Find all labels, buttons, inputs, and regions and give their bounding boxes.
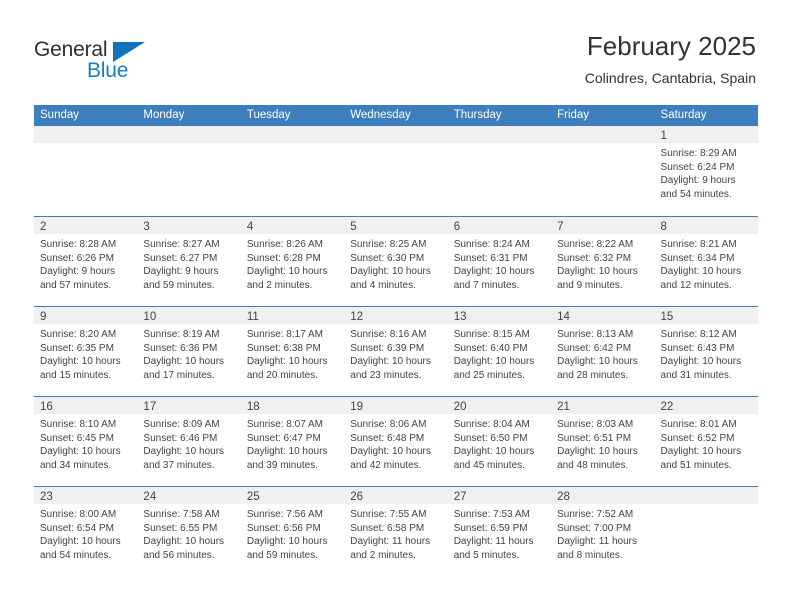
daylight-text-line2: and 54 minutes. <box>40 549 131 563</box>
daylight-text-line2: and 5 minutes. <box>454 549 545 563</box>
day-number-band <box>655 487 758 504</box>
daylight-text-line2: and 15 minutes. <box>40 369 131 383</box>
day-number-band <box>241 126 344 143</box>
calendar-day-cell[interactable]: 24Sunrise: 7:58 AMSunset: 6:55 PMDayligh… <box>137 487 240 576</box>
day-number: 23 <box>40 491 53 503</box>
sunrise-text: Sunrise: 8:00 AM <box>40 508 131 522</box>
logo-text-blue: Blue <box>87 59 128 83</box>
day-number: 12 <box>350 311 363 323</box>
daylight-text-line2: and 48 minutes. <box>557 459 648 473</box>
daylight-text-line2: and 51 minutes. <box>661 459 752 473</box>
calendar-day-cell[interactable]: 4Sunrise: 8:26 AMSunset: 6:28 PMDaylight… <box>241 217 344 306</box>
calendar-weeks: 1Sunrise: 8:29 AMSunset: 6:24 PMDaylight… <box>34 126 758 576</box>
sunrise-text: Sunrise: 7:53 AM <box>454 508 545 522</box>
day-number-band: 28 <box>551 487 654 504</box>
day-number: 19 <box>350 401 363 413</box>
sunset-text: Sunset: 6:34 PM <box>661 252 752 266</box>
daylight-text-line2: and 2 minutes. <box>350 549 441 563</box>
day-number-band <box>551 126 654 143</box>
weekday-header-sunday: Sunday <box>34 105 137 126</box>
weekday-header-row: Sunday Monday Tuesday Wednesday Thursday… <box>34 105 758 126</box>
calendar-day-cell[interactable]: 28Sunrise: 7:52 AMSunset: 7:00 PMDayligh… <box>551 487 654 576</box>
sunrise-text: Sunrise: 8:24 AM <box>454 238 545 252</box>
sunset-text: Sunset: 6:39 PM <box>350 342 441 356</box>
daylight-text-line1: Daylight: 11 hours <box>557 535 648 549</box>
daylight-text-line1: Daylight: 10 hours <box>661 265 752 279</box>
calendar-day-cell[interactable]: 21Sunrise: 8:03 AMSunset: 6:51 PMDayligh… <box>551 397 654 486</box>
day-number-band: 5 <box>344 217 447 234</box>
sunrise-text: Sunrise: 8:04 AM <box>454 418 545 432</box>
daylight-text-line1: Daylight: 10 hours <box>247 265 338 279</box>
calendar-week-row: 23Sunrise: 8:00 AMSunset: 6:54 PMDayligh… <box>34 486 758 576</box>
sunrise-text: Sunrise: 8:15 AM <box>454 328 545 342</box>
sunrise-text: Sunrise: 7:55 AM <box>350 508 441 522</box>
daylight-text-line1: Daylight: 10 hours <box>350 355 441 369</box>
calendar-day-cell[interactable]: 7Sunrise: 8:22 AMSunset: 6:32 PMDaylight… <box>551 217 654 306</box>
day-number-band: 16 <box>34 397 137 414</box>
day-number-band: 1 <box>655 126 758 143</box>
day-number: 13 <box>454 311 467 323</box>
weekday-header-tuesday: Tuesday <box>241 105 344 126</box>
calendar-day-cell[interactable]: 22Sunrise: 8:01 AMSunset: 6:52 PMDayligh… <box>655 397 758 486</box>
day-sun-info: Sunrise: 8:15 AMSunset: 6:40 PMDaylight:… <box>448 324 551 382</box>
sunset-text: Sunset: 6:58 PM <box>350 522 441 536</box>
sunrise-text: Sunrise: 8:27 AM <box>143 238 234 252</box>
sunrise-text: Sunrise: 8:20 AM <box>40 328 131 342</box>
daylight-text-line1: Daylight: 10 hours <box>454 355 545 369</box>
day-number-band <box>448 126 551 143</box>
calendar-day-cell[interactable]: 3Sunrise: 8:27 AMSunset: 6:27 PMDaylight… <box>137 217 240 306</box>
day-number: 3 <box>143 221 149 233</box>
daylight-text-line1: Daylight: 10 hours <box>557 265 648 279</box>
day-sun-info: Sunrise: 8:03 AMSunset: 6:51 PMDaylight:… <box>551 414 654 472</box>
calendar-day-cell[interactable]: 15Sunrise: 8:12 AMSunset: 6:43 PMDayligh… <box>655 307 758 396</box>
page-title: February 2025 <box>585 30 756 62</box>
sunset-text: Sunset: 7:00 PM <box>557 522 648 536</box>
day-number: 17 <box>143 401 156 413</box>
day-number-band: 9 <box>34 307 137 324</box>
daylight-text-line2: and 54 minutes. <box>661 188 752 202</box>
sunrise-text: Sunrise: 8:01 AM <box>661 418 752 432</box>
day-number-band: 4 <box>241 217 344 234</box>
day-number-band: 14 <box>551 307 654 324</box>
daylight-text-line1: Daylight: 11 hours <box>350 535 441 549</box>
day-number: 15 <box>661 311 674 323</box>
day-number-band: 17 <box>137 397 240 414</box>
sunset-text: Sunset: 6:51 PM <box>557 432 648 446</box>
sunset-text: Sunset: 6:31 PM <box>454 252 545 266</box>
daylight-text-line1: Daylight: 10 hours <box>143 355 234 369</box>
sunset-text: Sunset: 6:42 PM <box>557 342 648 356</box>
day-sun-info: Sunrise: 8:20 AMSunset: 6:35 PMDaylight:… <box>34 324 137 382</box>
calendar-day-cell[interactable]: 23Sunrise: 8:00 AMSunset: 6:54 PMDayligh… <box>34 487 137 576</box>
day-sun-info: Sunrise: 8:06 AMSunset: 6:48 PMDaylight:… <box>344 414 447 472</box>
sunset-text: Sunset: 6:32 PM <box>557 252 648 266</box>
calendar-week-row: 16Sunrise: 8:10 AMSunset: 6:45 PMDayligh… <box>34 396 758 486</box>
sunset-text: Sunset: 6:43 PM <box>661 342 752 356</box>
daylight-text-line2: and 34 minutes. <box>40 459 131 473</box>
daylight-text-line2: and 25 minutes. <box>454 369 545 383</box>
calendar-day-cell-empty <box>655 487 758 576</box>
day-number-band: 10 <box>137 307 240 324</box>
day-number: 10 <box>143 311 156 323</box>
day-number-band: 24 <box>137 487 240 504</box>
daylight-text-line1: Daylight: 9 hours <box>661 174 752 188</box>
day-sun-info: Sunrise: 8:22 AMSunset: 6:32 PMDaylight:… <box>551 234 654 292</box>
daylight-text-line2: and 8 minutes. <box>557 549 648 563</box>
day-sun-info: Sunrise: 8:10 AMSunset: 6:45 PMDaylight:… <box>34 414 137 472</box>
sunrise-text: Sunrise: 8:13 AM <box>557 328 648 342</box>
day-sun-info: Sunrise: 8:16 AMSunset: 6:39 PMDaylight:… <box>344 324 447 382</box>
daylight-text-line2: and 37 minutes. <box>143 459 234 473</box>
day-number-band: 18 <box>241 397 344 414</box>
sunrise-text: Sunrise: 8:22 AM <box>557 238 648 252</box>
calendar-day-cell[interactable]: 11Sunrise: 8:17 AMSunset: 6:38 PMDayligh… <box>241 307 344 396</box>
sunrise-text: Sunrise: 8:28 AM <box>40 238 131 252</box>
calendar-day-cell[interactable]: 1Sunrise: 8:29 AMSunset: 6:24 PMDaylight… <box>655 126 758 216</box>
day-number-band: 13 <box>448 307 551 324</box>
calendar-day-cell[interactable]: 19Sunrise: 8:06 AMSunset: 6:48 PMDayligh… <box>344 397 447 486</box>
day-sun-info: Sunrise: 8:12 AMSunset: 6:43 PMDaylight:… <box>655 324 758 382</box>
sunset-text: Sunset: 6:45 PM <box>40 432 131 446</box>
daylight-text-line2: and 59 minutes. <box>247 549 338 563</box>
day-sun-info: Sunrise: 7:58 AMSunset: 6:55 PMDaylight:… <box>137 504 240 562</box>
day-number-band: 25 <box>241 487 344 504</box>
day-number: 25 <box>247 491 260 503</box>
day-sun-info: Sunrise: 8:09 AMSunset: 6:46 PMDaylight:… <box>137 414 240 472</box>
day-number: 5 <box>350 221 356 233</box>
calendar-day-cell-empty <box>241 126 344 216</box>
calendar-day-cell-empty <box>448 126 551 216</box>
daylight-text-line2: and 56 minutes. <box>143 549 234 563</box>
daylight-text-line1: Daylight: 10 hours <box>350 445 441 459</box>
sunset-text: Sunset: 6:38 PM <box>247 342 338 356</box>
calendar-day-cell[interactable]: 13Sunrise: 8:15 AMSunset: 6:40 PMDayligh… <box>448 307 551 396</box>
calendar-grid: Sunday Monday Tuesday Wednesday Thursday… <box>34 105 758 576</box>
sunrise-text: Sunrise: 8:19 AM <box>143 328 234 342</box>
calendar-day-cell[interactable]: 27Sunrise: 7:53 AMSunset: 6:59 PMDayligh… <box>448 487 551 576</box>
daylight-text-line2: and 42 minutes. <box>350 459 441 473</box>
weekday-header-monday: Monday <box>137 105 240 126</box>
day-number: 7 <box>557 221 563 233</box>
calendar-page: General Blue February 2025 Colindres, Ca… <box>0 0 792 612</box>
sunrise-text: Sunrise: 7:56 AM <box>247 508 338 522</box>
sunrise-text: Sunrise: 8:26 AM <box>247 238 338 252</box>
daylight-text-line1: Daylight: 11 hours <box>454 535 545 549</box>
calendar-day-cell[interactable]: 10Sunrise: 8:19 AMSunset: 6:36 PMDayligh… <box>137 307 240 396</box>
daylight-text-line2: and 4 minutes. <box>350 279 441 293</box>
sunset-text: Sunset: 6:36 PM <box>143 342 234 356</box>
daylight-text-line2: and 39 minutes. <box>247 459 338 473</box>
sunset-text: Sunset: 6:40 PM <box>454 342 545 356</box>
sunset-text: Sunset: 6:35 PM <box>40 342 131 356</box>
weekday-header-wednesday: Wednesday <box>344 105 447 126</box>
day-number: 22 <box>661 401 674 413</box>
page-subtitle-location: Colindres, Cantabria, Spain <box>585 68 756 88</box>
calendar-week-row: 9Sunrise: 8:20 AMSunset: 6:35 PMDaylight… <box>34 306 758 396</box>
day-sun-info: Sunrise: 8:07 AMSunset: 6:47 PMDaylight:… <box>241 414 344 472</box>
day-number: 24 <box>143 491 156 503</box>
day-number: 2 <box>40 221 46 233</box>
day-number: 18 <box>247 401 260 413</box>
daylight-text-line1: Daylight: 9 hours <box>143 265 234 279</box>
day-number-band: 6 <box>448 217 551 234</box>
day-number-band: 11 <box>241 307 344 324</box>
day-number-band: 21 <box>551 397 654 414</box>
day-number: 27 <box>454 491 467 503</box>
sunrise-text: Sunrise: 8:10 AM <box>40 418 131 432</box>
day-number: 6 <box>454 221 460 233</box>
weekday-header-thursday: Thursday <box>448 105 551 126</box>
day-number: 16 <box>40 401 53 413</box>
title-block: February 2025 Colindres, Cantabria, Spai… <box>585 30 756 88</box>
daylight-text-line1: Daylight: 10 hours <box>557 355 648 369</box>
sunset-text: Sunset: 6:24 PM <box>661 161 752 175</box>
sunrise-text: Sunrise: 8:16 AM <box>350 328 441 342</box>
day-number-band: 8 <box>655 217 758 234</box>
daylight-text-line1: Daylight: 10 hours <box>247 355 338 369</box>
sunset-text: Sunset: 6:54 PM <box>40 522 131 536</box>
day-number: 1 <box>661 130 667 142</box>
sunrise-text: Sunrise: 8:12 AM <box>661 328 752 342</box>
day-sun-info: Sunrise: 8:04 AMSunset: 6:50 PMDaylight:… <box>448 414 551 472</box>
day-number-band: 19 <box>344 397 447 414</box>
day-number: 4 <box>247 221 253 233</box>
daylight-text-line1: Daylight: 10 hours <box>40 535 131 549</box>
daylight-text-line2: and 17 minutes. <box>143 369 234 383</box>
daylight-text-line1: Daylight: 10 hours <box>40 445 131 459</box>
day-number: 8 <box>661 221 667 233</box>
sunset-text: Sunset: 6:48 PM <box>350 432 441 446</box>
day-number-band: 26 <box>344 487 447 504</box>
daylight-text-line2: and 57 minutes. <box>40 279 131 293</box>
day-sun-info: Sunrise: 8:24 AMSunset: 6:31 PMDaylight:… <box>448 234 551 292</box>
daylight-text-line2: and 23 minutes. <box>350 369 441 383</box>
calendar-day-cell[interactable]: 14Sunrise: 8:13 AMSunset: 6:42 PMDayligh… <box>551 307 654 396</box>
day-sun-info: Sunrise: 8:27 AMSunset: 6:27 PMDaylight:… <box>137 234 240 292</box>
day-sun-info: Sunrise: 8:00 AMSunset: 6:54 PMDaylight:… <box>34 504 137 562</box>
calendar-day-cell[interactable]: 2Sunrise: 8:28 AMSunset: 6:26 PMDaylight… <box>34 217 137 306</box>
calendar-day-cell-empty <box>551 126 654 216</box>
day-number-band: 7 <box>551 217 654 234</box>
day-number-band: 22 <box>655 397 758 414</box>
daylight-text-line2: and 9 minutes. <box>557 279 648 293</box>
calendar-day-cell[interactable]: 18Sunrise: 8:07 AMSunset: 6:47 PMDayligh… <box>241 397 344 486</box>
day-sun-info: Sunrise: 7:52 AMSunset: 7:00 PMDaylight:… <box>551 504 654 562</box>
day-number: 20 <box>454 401 467 413</box>
sunset-text: Sunset: 6:59 PM <box>454 522 545 536</box>
daylight-text-line2: and 31 minutes. <box>661 369 752 383</box>
daylight-text-line1: Daylight: 10 hours <box>247 445 338 459</box>
daylight-text-line2: and 45 minutes. <box>454 459 545 473</box>
daylight-text-line1: Daylight: 10 hours <box>454 445 545 459</box>
day-sun-info: Sunrise: 7:53 AMSunset: 6:59 PMDaylight:… <box>448 504 551 562</box>
daylight-text-line1: Daylight: 10 hours <box>661 445 752 459</box>
calendar-day-cell-empty <box>344 126 447 216</box>
weekday-header-saturday: Saturday <box>655 105 758 126</box>
daylight-text-line1: Daylight: 10 hours <box>247 535 338 549</box>
day-number-band: 15 <box>655 307 758 324</box>
daylight-text-line2: and 28 minutes. <box>557 369 648 383</box>
daylight-text-line2: and 12 minutes. <box>661 279 752 293</box>
day-number: 28 <box>557 491 570 503</box>
daylight-text-line2: and 20 minutes. <box>247 369 338 383</box>
sunrise-text: Sunrise: 8:03 AM <box>557 418 648 432</box>
day-sun-info: Sunrise: 8:17 AMSunset: 6:38 PMDaylight:… <box>241 324 344 382</box>
daylight-text-line2: and 59 minutes. <box>143 279 234 293</box>
sunset-text: Sunset: 6:52 PM <box>661 432 752 446</box>
sunset-text: Sunset: 6:28 PM <box>247 252 338 266</box>
calendar-day-cell[interactable]: 20Sunrise: 8:04 AMSunset: 6:50 PMDayligh… <box>448 397 551 486</box>
sunset-text: Sunset: 6:55 PM <box>143 522 234 536</box>
day-sun-info: Sunrise: 8:29 AMSunset: 6:24 PMDaylight:… <box>655 143 758 201</box>
calendar-day-cell[interactable]: 25Sunrise: 7:56 AMSunset: 6:56 PMDayligh… <box>241 487 344 576</box>
day-number-band: 23 <box>34 487 137 504</box>
calendar-day-cell-empty <box>137 126 240 216</box>
sunset-text: Sunset: 6:47 PM <box>247 432 338 446</box>
calendar-day-cell[interactable]: 5Sunrise: 8:25 AMSunset: 6:30 PMDaylight… <box>344 217 447 306</box>
calendar-day-cell[interactable]: 6Sunrise: 8:24 AMSunset: 6:31 PMDaylight… <box>448 217 551 306</box>
day-number: 14 <box>557 311 570 323</box>
day-sun-info: Sunrise: 8:19 AMSunset: 6:36 PMDaylight:… <box>137 324 240 382</box>
sunrise-text: Sunrise: 8:29 AM <box>661 147 752 161</box>
daylight-text-line1: Daylight: 9 hours <box>40 265 131 279</box>
page-header: General Blue February 2025 Colindres, Ca… <box>0 0 792 100</box>
daylight-text-line1: Daylight: 10 hours <box>454 265 545 279</box>
sunrise-text: Sunrise: 8:25 AM <box>350 238 441 252</box>
day-sun-info: Sunrise: 8:26 AMSunset: 6:28 PMDaylight:… <box>241 234 344 292</box>
day-number-band: 12 <box>344 307 447 324</box>
sunset-text: Sunset: 6:27 PM <box>143 252 234 266</box>
sunrise-text: Sunrise: 8:07 AM <box>247 418 338 432</box>
sunrise-text: Sunrise: 7:58 AM <box>143 508 234 522</box>
daylight-text-line1: Daylight: 10 hours <box>143 535 234 549</box>
sunset-text: Sunset: 6:26 PM <box>40 252 131 266</box>
calendar-day-cell[interactable]: 17Sunrise: 8:09 AMSunset: 6:46 PMDayligh… <box>137 397 240 486</box>
calendar-day-cell[interactable]: 12Sunrise: 8:16 AMSunset: 6:39 PMDayligh… <box>344 307 447 396</box>
sunrise-text: Sunrise: 8:17 AM <box>247 328 338 342</box>
day-number-band: 20 <box>448 397 551 414</box>
general-blue-logo[interactable]: General Blue <box>34 38 184 86</box>
daylight-text-line2: and 2 minutes. <box>247 279 338 293</box>
day-number: 26 <box>350 491 363 503</box>
day-sun-info: Sunrise: 8:01 AMSunset: 6:52 PMDaylight:… <box>655 414 758 472</box>
sunset-text: Sunset: 6:30 PM <box>350 252 441 266</box>
daylight-text-line1: Daylight: 10 hours <box>350 265 441 279</box>
sunrise-text: Sunrise: 7:52 AM <box>557 508 648 522</box>
daylight-text-line1: Daylight: 10 hours <box>143 445 234 459</box>
calendar-week-row: 2Sunrise: 8:28 AMSunset: 6:26 PMDaylight… <box>34 216 758 306</box>
calendar-week-row: 1Sunrise: 8:29 AMSunset: 6:24 PMDaylight… <box>34 126 758 216</box>
weekday-header-friday: Friday <box>551 105 654 126</box>
day-number-band <box>137 126 240 143</box>
day-number-band <box>344 126 447 143</box>
day-sun-info: Sunrise: 8:21 AMSunset: 6:34 PMDaylight:… <box>655 234 758 292</box>
day-number: 11 <box>247 311 259 323</box>
calendar-day-cell-empty <box>34 126 137 216</box>
day-number-band <box>34 126 137 143</box>
day-sun-info: Sunrise: 7:56 AMSunset: 6:56 PMDaylight:… <box>241 504 344 562</box>
sunrise-text: Sunrise: 8:21 AM <box>661 238 752 252</box>
sunrise-text: Sunrise: 8:06 AM <box>350 418 441 432</box>
day-number-band: 2 <box>34 217 137 234</box>
day-number-band: 27 <box>448 487 551 504</box>
calendar-day-cell[interactable]: 8Sunrise: 8:21 AMSunset: 6:34 PMDaylight… <box>655 217 758 306</box>
daylight-text-line1: Daylight: 10 hours <box>40 355 131 369</box>
sunset-text: Sunset: 6:50 PM <box>454 432 545 446</box>
sunset-text: Sunset: 6:56 PM <box>247 522 338 536</box>
calendar-day-cell[interactable]: 9Sunrise: 8:20 AMSunset: 6:35 PMDaylight… <box>34 307 137 396</box>
sunrise-text: Sunrise: 8:09 AM <box>143 418 234 432</box>
sunset-text: Sunset: 6:46 PM <box>143 432 234 446</box>
daylight-text-line1: Daylight: 10 hours <box>661 355 752 369</box>
day-number-band: 3 <box>137 217 240 234</box>
calendar-day-cell[interactable]: 26Sunrise: 7:55 AMSunset: 6:58 PMDayligh… <box>344 487 447 576</box>
day-number: 21 <box>557 401 570 413</box>
daylight-text-line1: Daylight: 10 hours <box>557 445 648 459</box>
day-sun-info: Sunrise: 8:28 AMSunset: 6:26 PMDaylight:… <box>34 234 137 292</box>
calendar-day-cell[interactable]: 16Sunrise: 8:10 AMSunset: 6:45 PMDayligh… <box>34 397 137 486</box>
day-sun-info: Sunrise: 8:13 AMSunset: 6:42 PMDaylight:… <box>551 324 654 382</box>
day-number: 9 <box>40 311 46 323</box>
day-sun-info: Sunrise: 8:25 AMSunset: 6:30 PMDaylight:… <box>344 234 447 292</box>
day-sun-info: Sunrise: 7:55 AMSunset: 6:58 PMDaylight:… <box>344 504 447 562</box>
daylight-text-line2: and 7 minutes. <box>454 279 545 293</box>
